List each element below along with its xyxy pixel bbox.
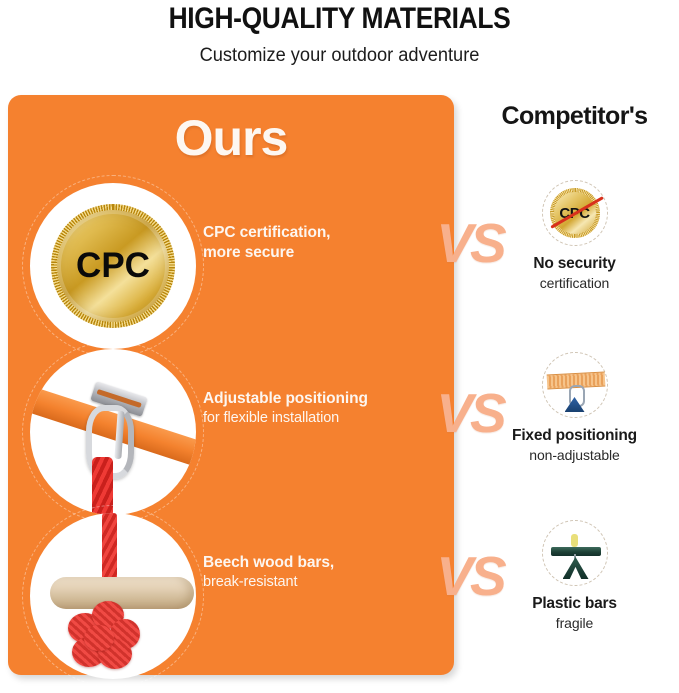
fixed-strap-icon bbox=[542, 352, 608, 418]
ours-row-1-line1: CPC certification, bbox=[203, 223, 453, 243]
vs-badge-1: VS bbox=[433, 212, 507, 274]
competitor-row-2-line2: non-adjustable bbox=[470, 447, 679, 463]
ours-row-2-line2: for flexible installation bbox=[203, 409, 453, 428]
ours-row-3-text: Beech wood bars, break-resistant bbox=[203, 553, 453, 592]
competitor-column-title: Competitor's bbox=[470, 102, 679, 131]
ours-photo-circle-woodbar bbox=[30, 513, 196, 679]
ours-row-3-line2: break-resistant bbox=[203, 573, 453, 592]
vs-badge-3: VS bbox=[433, 545, 507, 607]
ours-photo-circle-cpc: CPC bbox=[30, 183, 196, 349]
ours-row-beech-wood-bars: Beech wood bars, break-resistant bbox=[8, 503, 454, 663]
rope-knot-icon bbox=[66, 599, 142, 671]
ours-row-2-line1: Adjustable positioning bbox=[203, 389, 453, 409]
ours-row-cpc-certification: CPC CPC certification, more secure bbox=[8, 173, 454, 333]
ours-panel-title: Ours bbox=[8, 109, 454, 167]
ours-row-adjustable-positioning: Adjustable positioning for flexible inst… bbox=[8, 339, 454, 499]
yellow-pin-icon bbox=[571, 534, 578, 547]
competitor-row-3-line2: fragile bbox=[470, 615, 679, 631]
ours-row-1-line2: more secure bbox=[203, 243, 453, 263]
ours-photo-circle-strap bbox=[30, 349, 196, 515]
dark-hook-icon bbox=[563, 557, 589, 579]
page-subtitle: Customize your outdoor adventure bbox=[14, 45, 666, 67]
ours-row-1-text: CPC certification, more secure bbox=[203, 223, 453, 263]
page-title: HIGH-QUALITY MATERIALS bbox=[41, 2, 639, 36]
ours-row-2-text: Adjustable positioning for flexible inst… bbox=[203, 389, 453, 428]
vs-badge-2: VS bbox=[433, 382, 507, 444]
plastic-bar-hook-icon bbox=[542, 520, 608, 586]
comparison-infographic: HIGH-QUALITY MATERIALS Customize your ou… bbox=[0, 0, 679, 693]
ours-panel: Ours CPC CPC certification, more secure bbox=[8, 95, 454, 675]
competitor-row-1-line2: certification bbox=[470, 275, 679, 291]
cpc-badge-label: CPC bbox=[30, 183, 196, 349]
ours-row-3-line1: Beech wood bars, bbox=[203, 553, 453, 573]
cpc-badge-struck-out-icon: CPC bbox=[542, 180, 608, 246]
